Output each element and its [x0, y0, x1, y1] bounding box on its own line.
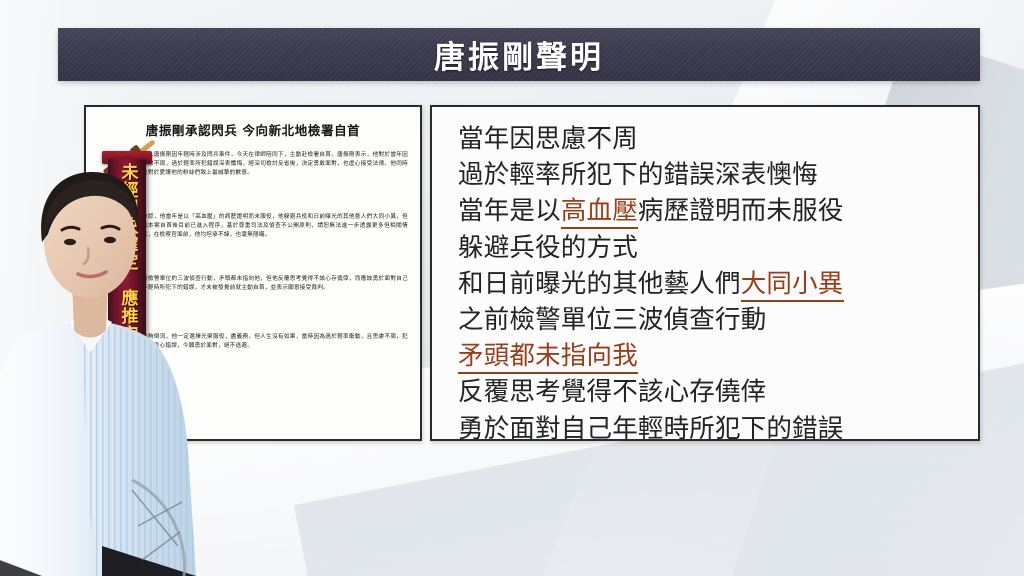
- clipping-paragraph: 承認，他當年是以「高血壓」的病歷證明而未服役，他躲避兵役和日前曝光的其他藝人們大…: [142, 213, 408, 241]
- statement-line: 過於輕率所犯下的錯誤深表懊悔: [458, 157, 964, 193]
- clipping-paragraph: 能夠倒流，他一定選擇光榮服役，盡義務，但人生沒有如果，當時因為過於輕率衝動，且思…: [142, 333, 408, 351]
- statement-panel: 當年因思慮不周過於輕率所犯下的錯誤深表懊悔當年是以高血壓病歷證明而未服役躲避兵役…: [430, 105, 980, 441]
- statement-line: 和日前曝光的其他藝人們大同小異: [458, 266, 964, 302]
- statement-highlight: 矛頭都未指向我: [458, 341, 638, 374]
- statement-text: 當年是以: [458, 196, 561, 226]
- statement-line: 反覆思考覺得不該心存僥倖: [458, 374, 964, 410]
- content-area: 唐振剛承認閃兵 今向新北地檢署自首 藝人唐振剛因年輕時涉及閃兵事件，今天在律師陪…: [84, 105, 980, 441]
- statement-line: 矛頭都未指向我: [458, 338, 964, 374]
- title-bar: 唐振剛聲明: [58, 28, 980, 81]
- statement-text: 之前檢警單位三波偵查行動: [458, 305, 766, 335]
- page-title: 唐振剛聲明: [434, 32, 604, 77]
- statement-text: 反覆思考覺得不該心存僥倖: [458, 377, 766, 407]
- statement-text: 和日前曝光的其他藝人們: [458, 269, 741, 299]
- statement-highlight: 高血壓: [561, 196, 638, 229]
- clipping-paragraph: 藝人唐振剛因年輕時涉及閃兵事件，今天在律師陪同下，主動赴檢署自首。唐振剛表示，他…: [142, 151, 408, 179]
- statement-text: 當年因思慮不周: [458, 124, 638, 154]
- news-clipping-panel: 唐振剛承認閃兵 今向新北地檢署自首 藝人唐振剛因年輕時涉及閃兵事件，今天在律師陪…: [84, 105, 422, 441]
- banner-text: 未經判決確定 應推定為無罪: [118, 163, 137, 397]
- statement-text: 躲避兵役的方式: [458, 233, 638, 263]
- banner-foot: [104, 410, 150, 419]
- statement-line: 躲避兵役的方式: [458, 230, 964, 266]
- statement-line: 當年是以高血壓病歷證明而未服役: [458, 193, 964, 229]
- clipping-paragraph: 前檢警單位的三波偵查行動，矛頭都未指向他，但他反覆思考覺得不該心存僥倖，而應該勇…: [142, 275, 408, 293]
- statement-text: 勇於面對自己年輕時所犯下的錯誤: [458, 414, 844, 441]
- statement-highlight: 大同小異: [741, 269, 844, 302]
- statement-line: 當年因思慮不周: [458, 121, 964, 157]
- statement-lines: 當年因思慮不周過於輕率所犯下的錯誤深表懊悔當年是以高血壓病歷證明而未服役躲避兵役…: [458, 121, 964, 441]
- statement-line: 之前檢警單位三波偵查行動: [458, 302, 964, 338]
- presumption-banner: 未經判決確定 應推定為無罪: [108, 159, 146, 415]
- statement-text: 病歷證明而未服役: [638, 196, 844, 226]
- clipping-image: 唐振剛承認閃兵 今向新北地檢署自首 藝人唐振剛因年輕時涉及閃兵事件，今天在律師陪…: [86, 107, 420, 439]
- statement-text: 過於輕率所犯下的錯誤深表懊悔: [458, 160, 818, 190]
- statement-line: 勇於面對自己年輕時所犯下的錯誤: [458, 411, 964, 441]
